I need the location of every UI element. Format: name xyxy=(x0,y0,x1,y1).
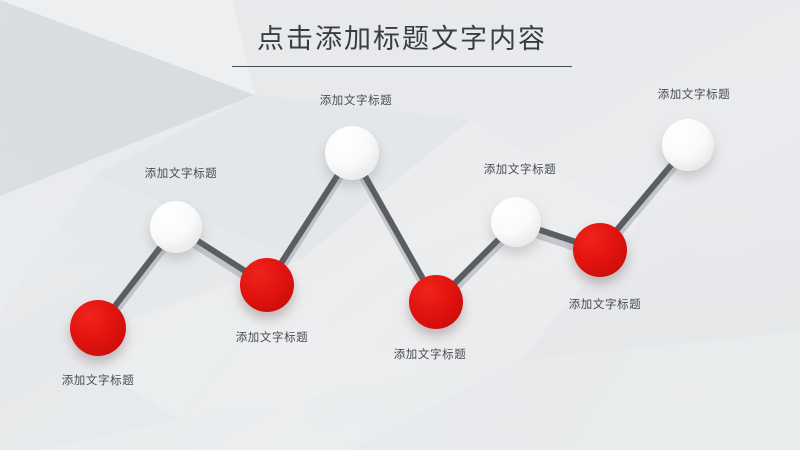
chart-node-1[interactable] xyxy=(70,300,126,356)
chart-node-2[interactable] xyxy=(150,201,202,253)
chart-node-label-8[interactable]: 添加文字标题 xyxy=(658,86,731,102)
chart-node-label-2[interactable]: 添加文字标题 xyxy=(145,165,218,181)
chart-node-label-4[interactable]: 添加文字标题 xyxy=(320,92,393,108)
chart-node-6[interactable] xyxy=(491,197,541,247)
chart-node-label-5[interactable]: 添加文字标题 xyxy=(394,346,467,362)
chart-node-label-7[interactable]: 添加文字标题 xyxy=(569,296,642,312)
line-chart: 添加文字标题添加文字标题添加文字标题添加文字标题添加文字标题添加文字标题添加文字… xyxy=(0,0,800,450)
chart-node-label-6[interactable]: 添加文字标题 xyxy=(484,161,557,177)
chart-node-5[interactable] xyxy=(409,275,463,329)
chart-node-3[interactable] xyxy=(240,258,294,312)
chart-node-8[interactable] xyxy=(662,119,714,171)
chart-node-4[interactable] xyxy=(325,126,379,180)
chart-node-label-1[interactable]: 添加文字标题 xyxy=(62,372,135,388)
slide-canvas: 点击添加标题文字内容 添加文字标题添加文字标题添加文字标题添加文字标题添加文字标… xyxy=(0,0,800,450)
chart-node-7[interactable] xyxy=(573,223,627,277)
chart-node-label-3[interactable]: 添加文字标题 xyxy=(236,329,309,345)
